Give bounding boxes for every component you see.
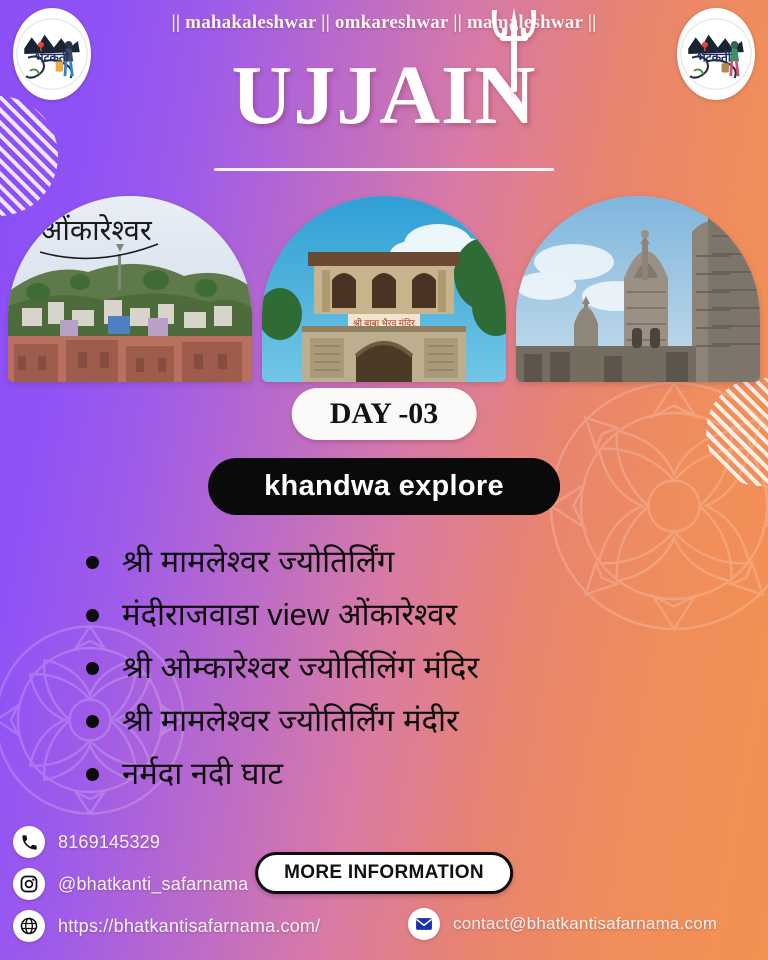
list-item-label: नर्मदा नदी घाट <box>122 756 283 791</box>
page-title: UJJAIN <box>232 52 537 140</box>
title-container: UJJAIN <box>0 52 768 140</box>
website-url: https://bhatkantisafarnama.com/ <box>58 916 320 937</box>
instagram-handle: @bhatkanti_safarnama <box>58 874 248 895</box>
list-item-label: श्री मामलेश्वर ज्योतिर्लिंग <box>122 544 394 579</box>
day-badge: DAY -03 <box>292 388 477 440</box>
subtitle-badge: khandwa explore <box>208 458 560 515</box>
list-item-label: श्री ओम्कारेश्वर ज्योर्तिलिंग मंदिर <box>122 650 479 685</box>
list-item: श्री मामलेश्वर ज्योतिर्लिंग <box>86 542 728 582</box>
list-item-label: श्री मामलेश्वर ज्योतिर्लिंग मंदीर <box>122 703 459 738</box>
contact-website[interactable]: https://bhatkantisafarnama.com/ <box>13 910 320 942</box>
stripe-decoration-right <box>706 378 768 486</box>
title-underline <box>214 168 554 171</box>
list-item-label: मंदीराजवाडा view ओंकारेश्वर <box>122 597 457 632</box>
more-information-button[interactable]: MORE INFORMATION <box>255 852 513 894</box>
itinerary-list: श्री मामलेश्वर ज्योतिर्लिंग मंदीराजवाडा … <box>86 542 728 807</box>
photo-temple-shikhara <box>516 196 760 382</box>
poster-canvas: भटकंती भटकंती || mahakaleshwar || omkare… <box>0 0 768 960</box>
list-item: श्री ओम्कारेश्वर ज्योर्तिलिंग मंदिर <box>86 648 728 688</box>
list-item: मंदीराजवाडा view ओंकारेश्वर <box>86 595 728 635</box>
bullet-icon <box>86 715 99 728</box>
bullet-icon <box>86 662 99 675</box>
email-address: contact@bhatkantisafarnama.com <box>453 914 717 934</box>
bullet-icon <box>86 768 99 781</box>
mail-icon <box>408 908 440 940</box>
trishul-icon <box>486 8 542 94</box>
bullet-icon <box>86 609 99 622</box>
list-item: श्री मामलेश्वर ज्योतिर्लिंग मंदीर <box>86 701 728 741</box>
instagram-icon <box>13 868 45 900</box>
list-item: नर्मदा नदी घाट <box>86 754 728 794</box>
photo-temple-gateway: श्री बाबा भैरव मंदिर <box>262 196 506 382</box>
globe-icon <box>13 910 45 942</box>
phone-icon <box>13 826 45 858</box>
photo-omkareshwar-town: ओंकारेश्वर <box>8 196 252 382</box>
contact-instagram[interactable]: @bhatkanti_safarnama <box>13 868 248 900</box>
svg-text:ओंकारेश्वर: ओंकारेश्वर <box>40 214 153 247</box>
bullet-icon <box>86 556 99 569</box>
contact-email[interactable]: contact@bhatkantisafarnama.com <box>408 908 717 940</box>
phone-number: 8169145329 <box>58 832 160 853</box>
poster-tagline: || mahakaleshwar || omkareshwar || mamal… <box>0 12 768 34</box>
photo-gallery: ओंकारेश्वर <box>8 196 760 382</box>
contact-phone[interactable]: 8169145329 <box>13 826 160 858</box>
